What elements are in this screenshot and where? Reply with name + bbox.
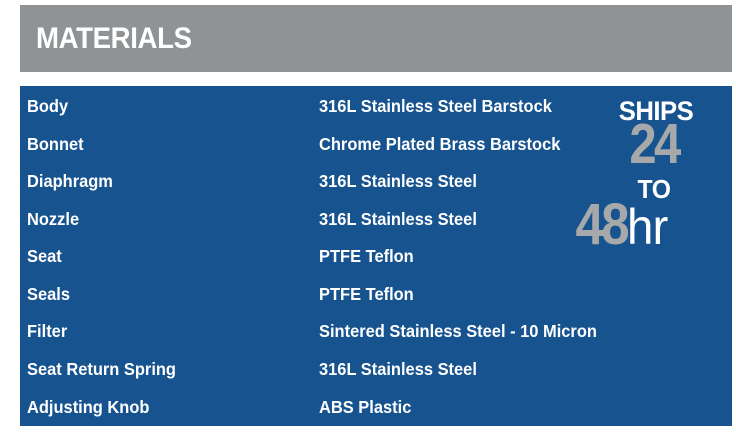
part-material: Sintered Stainless Steel - 10 Micron bbox=[319, 323, 707, 341]
part-name: Adjusting Knob bbox=[27, 399, 301, 417]
part-material: PTFE Teflon bbox=[319, 286, 707, 304]
part-material: 316L Stainless Steel bbox=[319, 361, 707, 379]
part-name: Bonnet bbox=[27, 136, 301, 154]
part-name: Diaphragm bbox=[27, 173, 301, 191]
part-name: Body bbox=[27, 98, 301, 116]
materials-table-panel: Body 316L Stainless Steel Barstock Bonne… bbox=[20, 86, 732, 426]
part-name: Nozzle bbox=[27, 211, 301, 229]
part-name: Seat Return Spring bbox=[27, 361, 301, 379]
table-row: Seat Return Spring 316L Stainless Steel bbox=[20, 351, 732, 389]
badge-ships-label: SHIPS bbox=[599, 98, 713, 125]
materials-spec-sheet: MATERIALS Body 316L Stainless Steel Bars… bbox=[0, 0, 736, 432]
table-row: Filter Sintered Stainless Steel - 10 Mic… bbox=[20, 313, 732, 351]
badge-hr-unit: hr bbox=[627, 202, 667, 252]
part-name: Seals bbox=[27, 286, 301, 304]
part-name: Filter bbox=[27, 323, 301, 341]
part-material: ABS Plastic bbox=[319, 399, 707, 417]
badge-48hr-row: 48 hr bbox=[572, 196, 722, 254]
ships-24-to-48hr-badge: SHIPS 24 TO 48 hr bbox=[594, 92, 718, 252]
badge-48-value: 48 bbox=[576, 196, 627, 254]
materials-header-banner: MATERIALS bbox=[20, 5, 732, 72]
page-title: MATERIALS bbox=[36, 24, 192, 54]
badge-to-label: TO bbox=[597, 176, 711, 202]
table-row: Adjusting Knob ABS Plastic bbox=[20, 389, 732, 427]
table-row: Seals PTFE Teflon bbox=[20, 276, 732, 314]
part-name: Seat bbox=[27, 248, 301, 266]
